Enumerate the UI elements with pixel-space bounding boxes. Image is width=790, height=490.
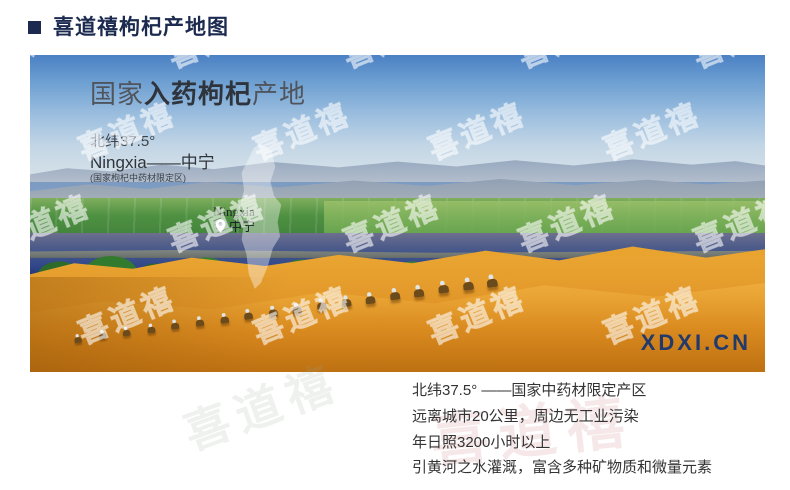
camel <box>341 298 351 306</box>
map-marker-label: Ningxia 中宁 <box>213 205 255 233</box>
camel <box>123 329 131 336</box>
camel <box>365 295 375 304</box>
square-bullet-icon <box>28 21 41 34</box>
hero-region: Ningxia——中宁 <box>90 152 306 173</box>
map-pin-row: 中宁 <box>215 219 255 233</box>
camel <box>196 319 205 326</box>
camel <box>220 316 229 323</box>
map-pin-icon <box>215 219 226 233</box>
description-line: 年日照3200小时以上 <box>412 430 782 456</box>
camel <box>244 312 253 320</box>
site-stamp: XDXI.CN <box>641 330 751 356</box>
map-label-english: Ningxia <box>213 205 255 218</box>
description-line: 远离城市20公里，周边无工业污染 <box>412 404 782 430</box>
hero-headline-block: 国家入药枸杞产地 北纬37.5° Ningxia——中宁 (国家枸杞中药材限定区… <box>90 80 306 185</box>
camel <box>438 285 449 294</box>
hero-latitude: 北纬37.5° <box>90 132 306 152</box>
hero-headline-part3: 产地 <box>252 79 306 109</box>
hero-headline-part2: 入药枸杞 <box>144 79 252 109</box>
section-header: 喜道禧枸杞产地图 <box>28 12 229 42</box>
description-line: 引黄河之水灌溉，富含多种矿物质和微量元素 <box>412 455 782 481</box>
description-block: 北纬37.5° ——国家中药材限定产区 远离城市20公里，周边无工业污染 年日照… <box>412 378 782 481</box>
camel <box>463 281 474 290</box>
hero-headline-part1: 国家 <box>90 79 144 109</box>
camel <box>317 302 327 310</box>
farmland-belt-light <box>324 201 765 236</box>
map-label-chinese: 中宁 <box>229 220 255 233</box>
camel <box>487 278 498 287</box>
camel <box>268 309 278 317</box>
camel <box>98 333 106 340</box>
hero-region-note: (国家枸杞中药材限定区) <box>90 173 306 185</box>
page-title: 喜道禧枸杞产地图 <box>53 17 229 38</box>
hero-image: 国家入药枸杞产地 北纬37.5° Ningxia——中宁 (国家枸杞中药材限定区… <box>30 55 765 372</box>
camel <box>147 326 155 333</box>
camel <box>171 323 180 330</box>
camel <box>414 288 425 297</box>
camel <box>74 336 82 342</box>
camel <box>293 305 303 313</box>
description-line: 北纬37.5° ——国家中药材限定产区 <box>412 378 782 404</box>
camel <box>390 292 401 301</box>
hero-headline: 国家入药枸杞产地 <box>90 80 306 110</box>
